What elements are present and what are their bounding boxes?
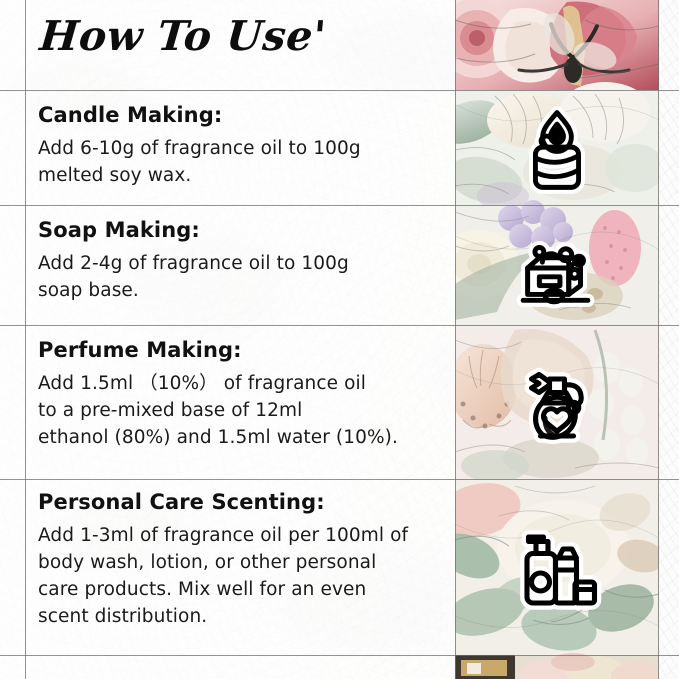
section-heading: Personal Care Scenting: (38, 490, 448, 514)
soap-bar-icon (510, 221, 604, 315)
candle-icon (511, 104, 603, 196)
left-margin-rule (25, 0, 26, 679)
right-gutter-fade (659, 0, 679, 679)
section-heading: Soap Making: (38, 218, 448, 242)
perfume-bottle-icon-slot (455, 345, 659, 455)
section-body: Add 1.5ml （10%） of fragrance oil to a pr… (38, 370, 448, 451)
section-perfume-making: Perfume Making: Add 1.5ml （10%） of fragr… (38, 338, 448, 451)
how-to-use-infographic: How To Use' Candle Making: Add 6-10g of … (0, 0, 679, 679)
perfume-bottle-icon (509, 352, 605, 448)
rule-section-4-bottom (0, 655, 679, 656)
soap-bar-icon-slot (455, 218, 659, 318)
section-body: Add 2-4g of fragrance oil to 100g soap b… (38, 250, 448, 304)
rule-section-1-bottom (0, 205, 679, 206)
section-candle-making: Candle Making: Add 6-10g of fragrance oi… (38, 103, 448, 189)
page-title: How To Use' (38, 12, 328, 60)
personal-care-products-icon (509, 522, 605, 618)
rule-title-bottom (0, 90, 679, 91)
section-heading: Perfume Making: (38, 338, 448, 362)
candle-icon-slot (455, 100, 659, 200)
section-body: Add 6-10g of fragrance oil to 100g melte… (38, 135, 448, 189)
section-soap-making: Soap Making: Add 2-4g of fragrance oil t… (38, 218, 448, 304)
section-heading: Candle Making: (38, 103, 448, 127)
section-personal-care-scenting: Personal Care Scenting: Add 1-3ml of fra… (38, 490, 448, 630)
rule-section-2-bottom (0, 325, 679, 326)
rule-section-3-bottom (0, 479, 679, 480)
section-body: Add 1-3ml of fragrance oil per 100ml of … (38, 522, 448, 630)
personal-care-products-icon-slot (455, 510, 659, 630)
